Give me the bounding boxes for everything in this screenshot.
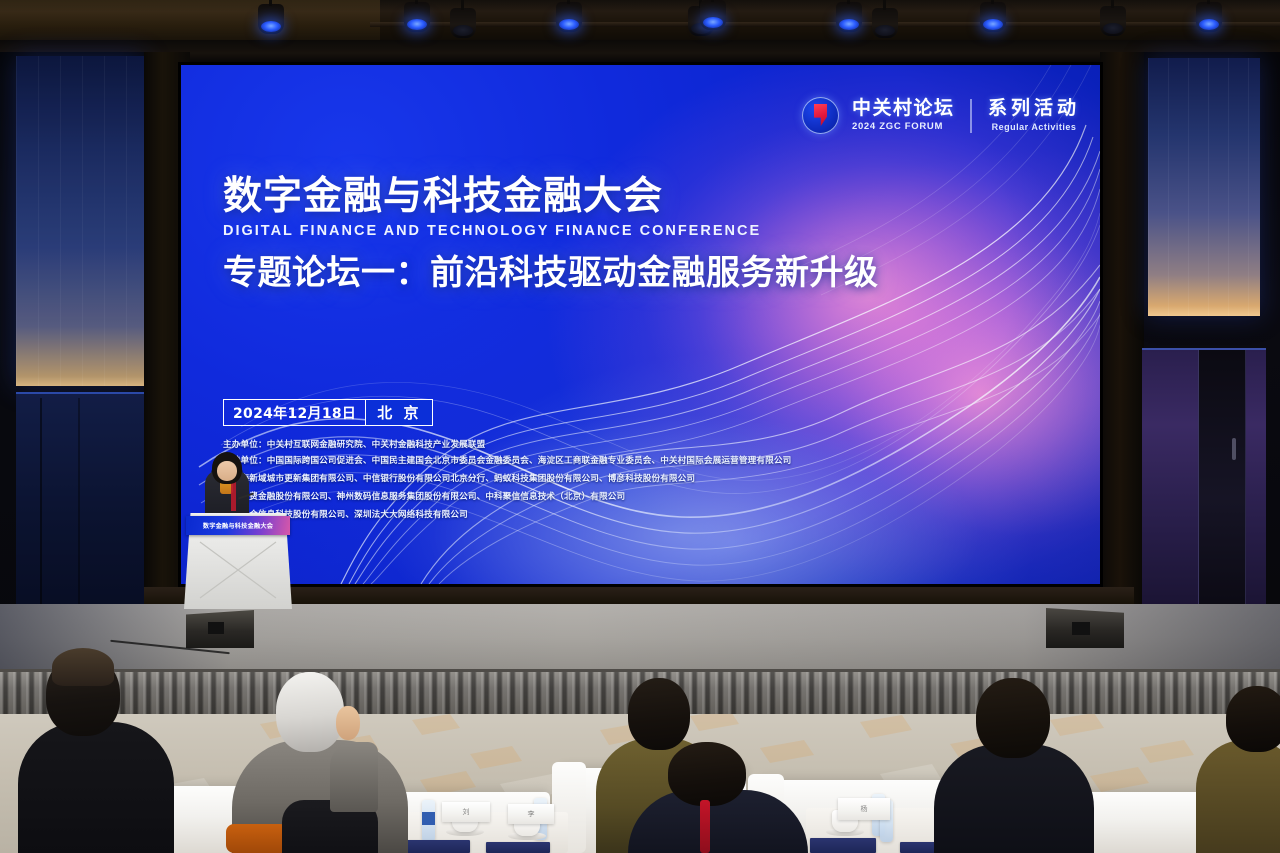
logo-english-name: 2024 ZGC FORUM xyxy=(852,121,955,132)
ceiling-beam xyxy=(0,40,1280,64)
logo-divider xyxy=(970,99,972,133)
screen-title-block: 数字金融与科技金融大会 DIGITAL FINANCE AND TECHNOLO… xyxy=(223,177,879,292)
stage-monitor-left xyxy=(186,610,254,648)
logo-series-cn: 系列活动 xyxy=(988,99,1080,120)
stage-light-icon xyxy=(1196,2,1222,32)
stage-light-icon xyxy=(1100,6,1126,36)
stage-light-icon xyxy=(836,2,862,32)
presenter-face xyxy=(217,461,237,481)
conference-title-cn: 数字金融与科技金融大会 xyxy=(223,177,879,218)
name-card-text: 李 xyxy=(528,809,535,819)
stage-light-icon xyxy=(258,4,284,34)
conference-hall-scene: 中关村论坛 2024 ZGC FORUM 系列活动 Regular Activi… xyxy=(0,0,1280,853)
stage-light-icon xyxy=(700,0,726,30)
led-screen: 中关村论坛 2024 ZGC FORUM 系列活动 Regular Activi… xyxy=(181,65,1100,584)
organizer-line: 支持单位：中国国际跨国公司促进会、中国民主建国会北京市委员会金融委员会、海淀区工… xyxy=(223,457,923,466)
logo-series-en: Regular Activities xyxy=(988,122,1080,132)
place-name-card: 杨 xyxy=(838,798,890,820)
left-panel-seams xyxy=(16,56,144,386)
stage-light-icon xyxy=(556,2,582,32)
stage-light-icon xyxy=(404,2,430,32)
right-panel-seams xyxy=(1148,58,1260,316)
logo-chinese-name: 中关村论坛 xyxy=(852,99,955,120)
place-name-card: 李 xyxy=(508,804,554,824)
podium-banner-text: 数字金融与科技金融大会 xyxy=(203,521,273,530)
stage-light-icon xyxy=(872,8,898,38)
date-location-badge: 2024年12月18日 北 京 xyxy=(223,399,433,426)
podium-banner: 数字金融与科技金融大会 xyxy=(186,516,290,535)
program-card xyxy=(486,842,550,853)
organizer-line: 北京海新域城市更新集团有限公司、中信银行股份有限公司北京分行、蚂蚁科技集团股份有… xyxy=(223,475,923,484)
stage-monitor-right xyxy=(1046,608,1124,648)
organizer-line: 马上消费金融股份有限公司、神州数码信息服务集团股份有限公司、中科聚信信息技术（北… xyxy=(223,493,923,502)
lighting-truss xyxy=(370,22,1280,27)
exit-door[interactable] xyxy=(1198,350,1246,646)
organizer-line: 主办单位：中关村互联网金融研究院、中关村金融科技产业发展联盟 xyxy=(223,441,923,450)
forum-subtitle-cn: 专题论坛一：前沿科技驱动金融服务新升级 xyxy=(223,255,879,292)
right-wall-dark-column xyxy=(1100,52,1144,672)
presenter-lanyard xyxy=(231,479,236,511)
event-city: 北 京 xyxy=(365,400,432,425)
program-card xyxy=(404,840,470,853)
stage-light-icon xyxy=(450,8,476,38)
name-card-text: 杨 xyxy=(861,804,868,814)
place-name-card: 刘 xyxy=(442,802,490,822)
conference-title-en: DIGITAL FINANCE AND TECHNOLOGY FINANCE C… xyxy=(223,223,879,239)
event-date: 2024年12月18日 xyxy=(224,400,365,425)
podium-panel-lines xyxy=(198,540,278,600)
stage-light-icon xyxy=(980,2,1006,32)
door-handle-icon[interactable] xyxy=(1232,438,1236,460)
water-bottle-label xyxy=(422,812,435,825)
name-card-text: 刘 xyxy=(463,807,470,817)
zgc-emblem-icon xyxy=(802,97,839,134)
zgc-forum-logo: 中关村论坛 2024 ZGC FORUM 系列活动 Regular Activi… xyxy=(802,97,1080,134)
organizer-list: 主办单位：中关村互联网金融研究院、中关村金融科技产业发展联盟 支持单位：中国国际… xyxy=(223,441,923,527)
organizer-line: 上海合合信息科技股份有限公司、深圳法大大网络科技有限公司 xyxy=(223,511,923,520)
program-card xyxy=(810,838,876,853)
